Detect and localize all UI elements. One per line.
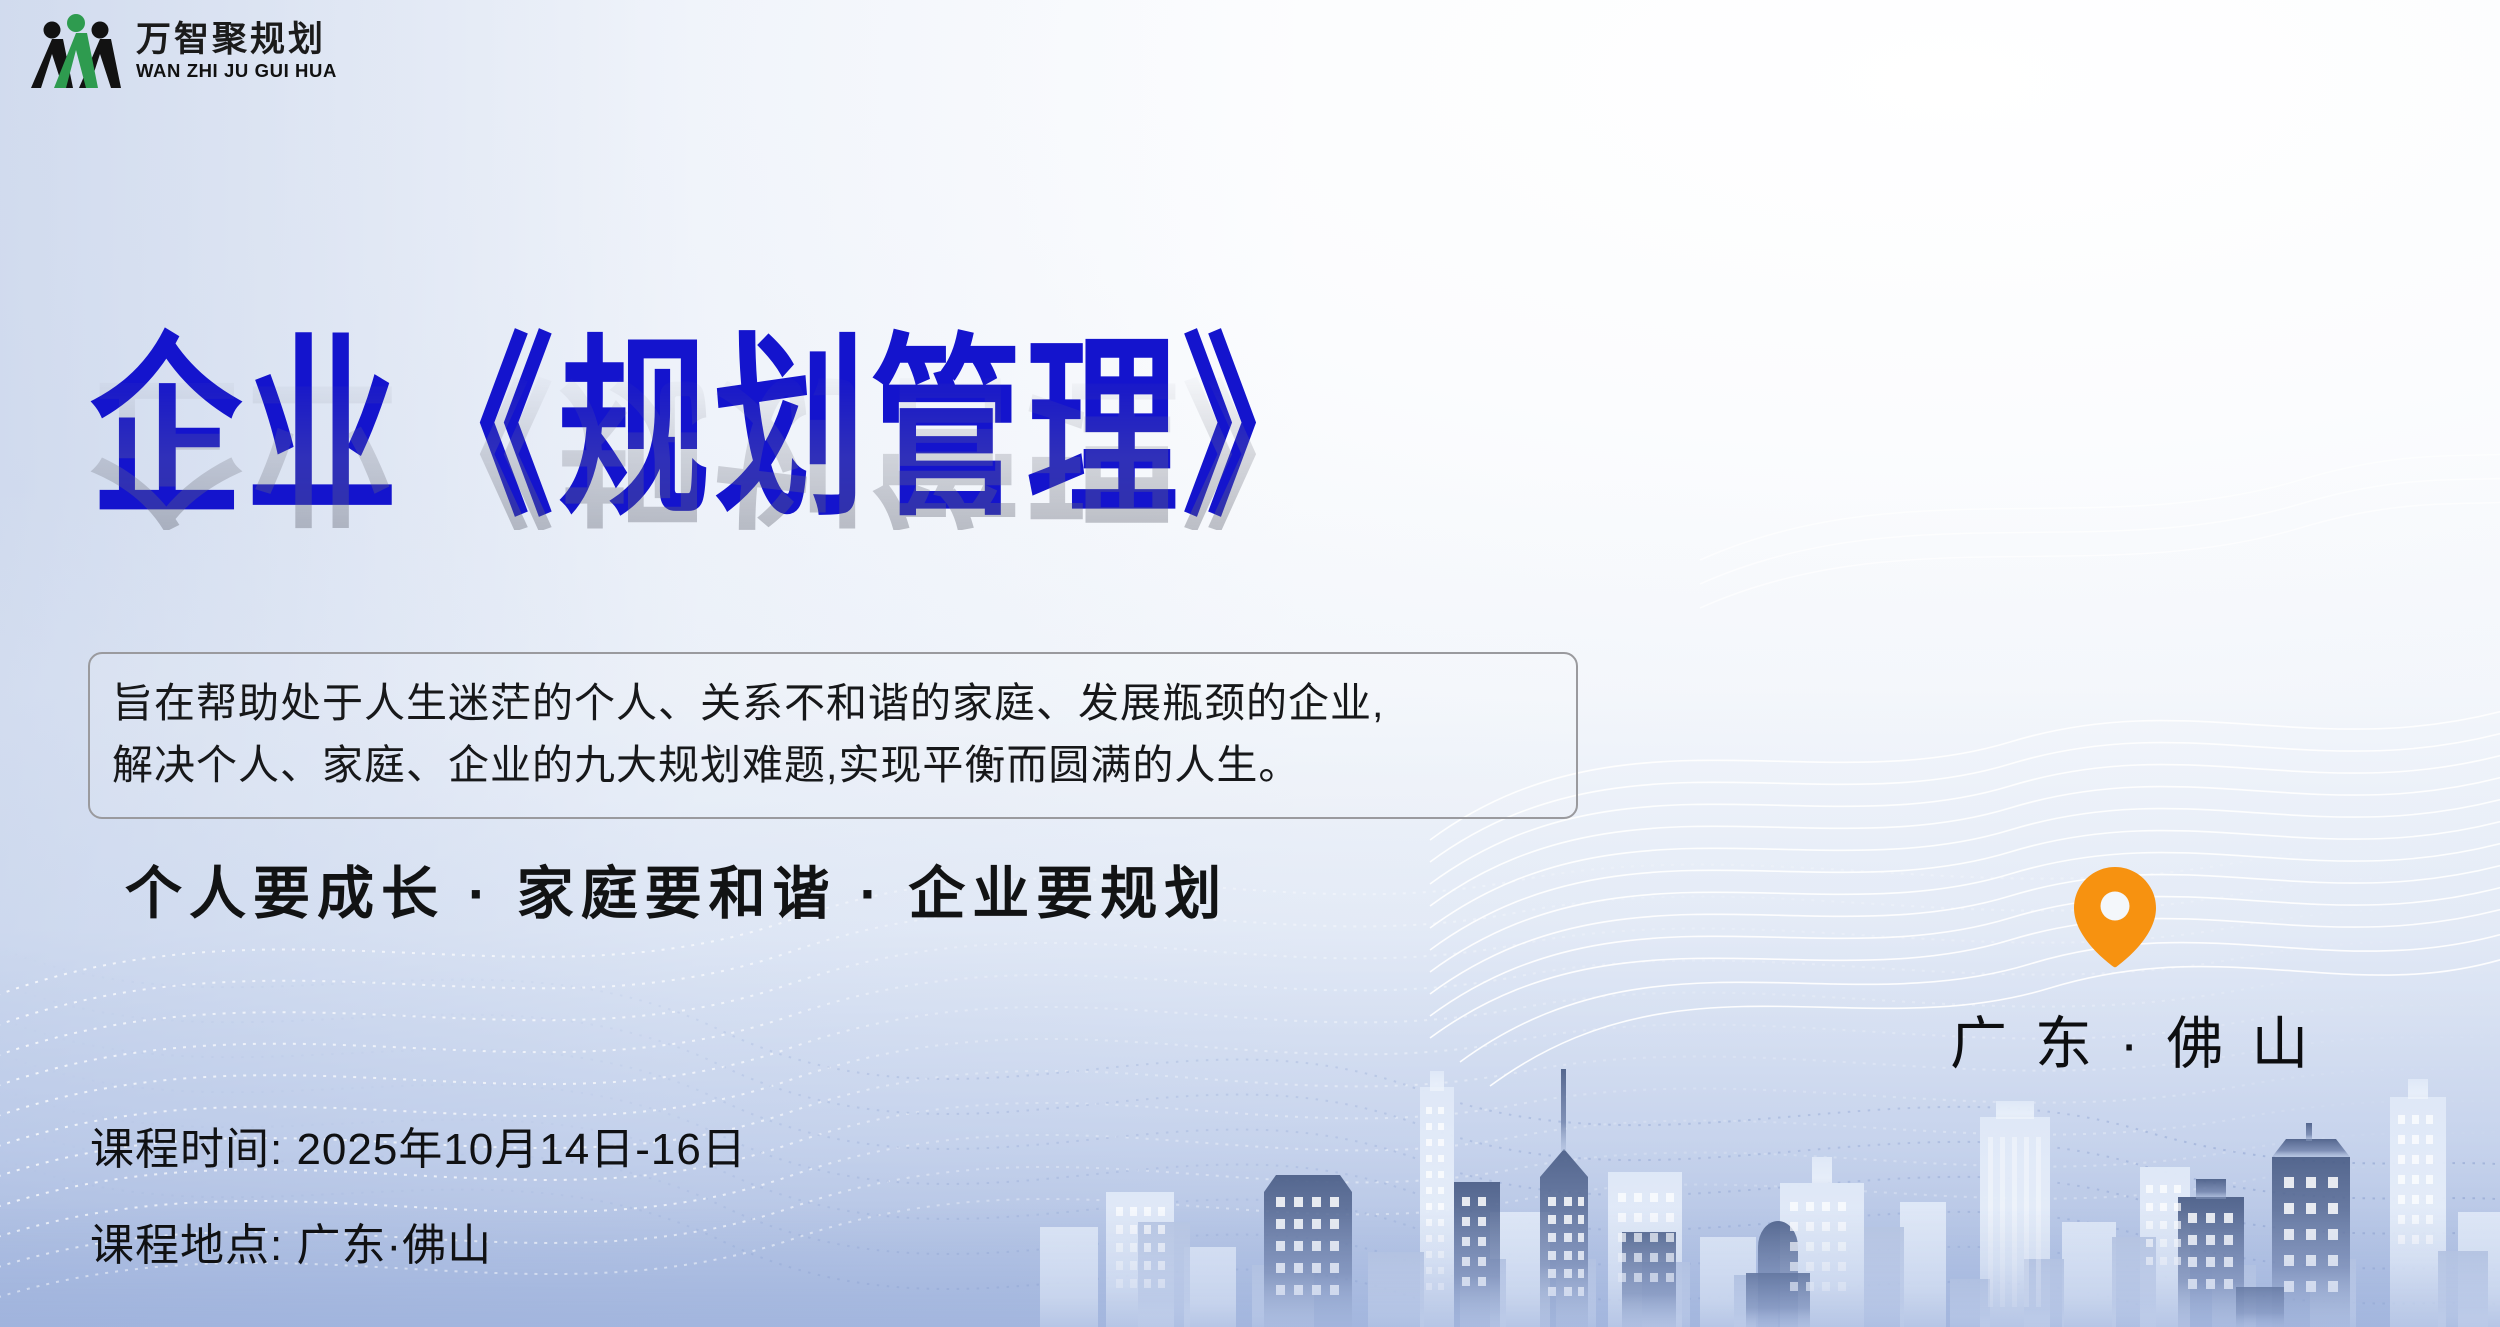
poster-canvas: 万智聚规划 WAN ZHI JU GUI HUA 企业《规划管理》 企业《规划管… <box>0 0 2500 1327</box>
three-people-logo-icon <box>30 10 122 92</box>
brand-logo[interactable]: 万智聚规划 WAN ZHI JU GUI HUA <box>30 10 337 92</box>
brand-name-en: WAN ZHI JU GUI HUA <box>136 62 337 81</box>
description-line-1: 旨在帮助处于人生迷茫的个人、关系不和谐的家庭、发展瓶颈的企业, <box>112 672 1554 734</box>
map-pin-icon <box>1950 865 2280 974</box>
location-block: 广 东 · 佛 山 <box>1950 865 2280 1080</box>
brand-name-cn: 万智聚规划 <box>136 21 337 59</box>
brand-wordmark: 万智聚规划 WAN ZHI JU GUI HUA <box>136 21 337 80</box>
description-line-2: 解决个人、家庭、企业的九大规划难题,实现平衡而圆满的人生。 <box>112 734 1554 796</box>
course-place: 课程地点: 广东·佛山 <box>90 1224 747 1268</box>
hero-title-block: 企业《规划管理》 企业《规划管理》 <box>90 330 1338 485</box>
description-box: 旨在帮助处于人生迷茫的个人、关系不和谐的家庭、发展瓶颈的企业, 解决个人、家庭、… <box>88 652 1578 819</box>
page-title: 企业《规划管理》 <box>90 330 1338 528</box>
location-label: 广 东 · 佛 山 <box>1950 998 2280 1080</box>
course-info-block: 课程时间: 2025年10月14日-16日 课程地点: 广东·佛山 <box>90 1128 747 1268</box>
course-time: 课程时间: 2025年10月14日-16日 <box>90 1128 747 1172</box>
slogan-text: 个人要成长 · 家庭要和谐 · 企业要规划 <box>125 848 1228 930</box>
